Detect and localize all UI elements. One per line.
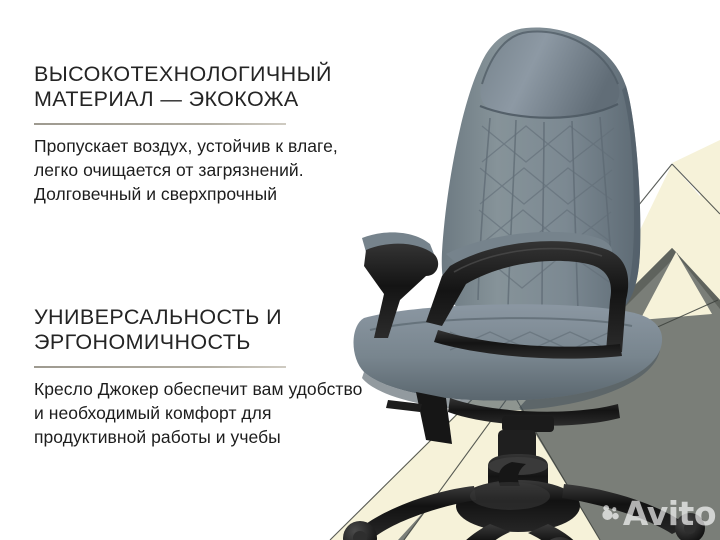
body-ergonomics: Кресло Джокер обеспечит вам удобство и н… — [34, 377, 434, 449]
heading-ergonomics: УНИВЕРСАЛЬНОСТЬ И ЭРГОНОМИЧНОСТЬ — [34, 305, 434, 355]
feature-block-material: ВЫСОКОТЕХНОЛОГИЧНЫЙ МАТЕРИАЛ — ЭКОКОЖА П… — [34, 62, 434, 206]
heading-material: ВЫСОКОТЕХНОЛОГИЧНЫЙ МАТЕРИАЛ — ЭКОКОЖА — [34, 62, 434, 112]
divider-ergonomics — [34, 366, 286, 368]
divider-material — [34, 123, 286, 125]
promo-banner: ВЫСОКОТЕХНОЛОГИЧНЫЙ МАТЕРИАЛ — ЭКОКОЖА П… — [0, 0, 720, 540]
feature-block-ergonomics: УНИВЕРСАЛЬНОСТЬ И ЭРГОНОМИЧНОСТЬ Кресло … — [34, 305, 434, 449]
body-material: Пропускает воздух, устойчив к влаге, лег… — [34, 134, 434, 206]
